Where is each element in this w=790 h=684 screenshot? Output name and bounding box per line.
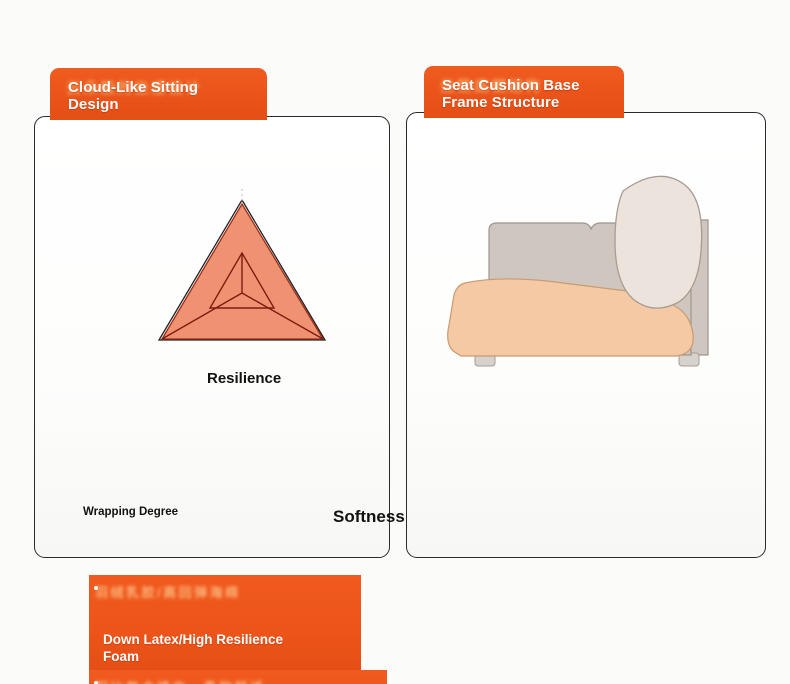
sofa-illustration [427, 163, 747, 413]
sofa-back-cushion [615, 176, 702, 308]
card-header-tag-left: 云朵般的坐感设计 Cloud-Like Sitting Design [50, 68, 267, 120]
feature-card-cloud-like-sitting: Resilience Softness Wrapping Degree 羽绒乳胶… [34, 116, 390, 558]
tag-label-left: Cloud-Like Sitting Design [68, 79, 261, 113]
caption-row: 羽绒乳胶/高回弹海绵 Down Latex/High Resilience Fo… [89, 575, 361, 670]
caption-ghost-text: 羽绒乳胶/高回弹海绵 [95, 584, 357, 601]
radar-chart-svg [35, 177, 391, 477]
radar-chart: Resilience Softness Wrapping Degree [35, 177, 391, 477]
radar-axis-label-resilience: Resilience [207, 370, 281, 387]
card-header-tag-right: 坐垫底框结构 Seat Cushion Base Frame Structure [424, 66, 624, 118]
caption-badge-left: 羽绒乳胶/高回弹海绵 Down Latex/High Resilience Fo… [89, 575, 387, 684]
radar-axis-label-softness: Softness [333, 507, 405, 527]
sofa-side-view-svg [427, 163, 747, 413]
bullet-icon [94, 586, 98, 590]
tag-label-right: Seat Cushion Base Frame Structure [442, 77, 618, 111]
caption-text: Down Latex/High Resilience Foam [103, 632, 283, 664]
feature-card-seat-cushion-base-frame: 前高后低 Higher Front Lower Back 设计微微下陷包裹感 D… [406, 112, 766, 558]
caption-row: 配比复合填充，柔软舒适 Proportional Composite Filli… [89, 670, 387, 684]
caption-ghost-text: 配比复合填充，柔软舒适 [95, 679, 383, 684]
radar-axis-label-wrapping-degree: Wrapping Degree [83, 506, 178, 518]
page-root: 云朵般的坐感设计 Cloud-Like Sitting Design [0, 0, 790, 684]
